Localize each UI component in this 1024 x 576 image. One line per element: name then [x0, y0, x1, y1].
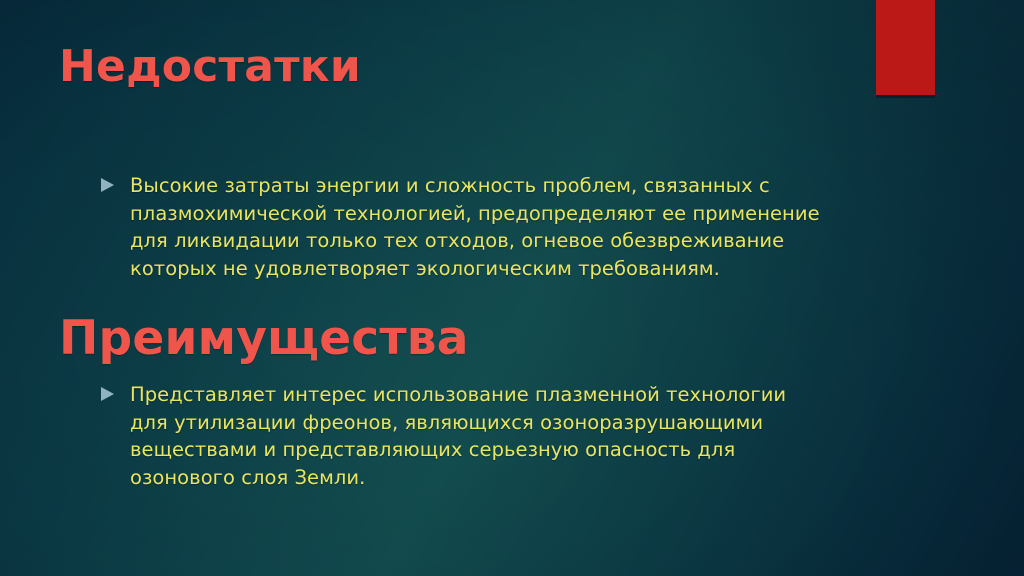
- triangle-right-bullet-icon: [101, 386, 115, 402]
- heading-drawbacks: Недостатки: [59, 42, 361, 92]
- slide-content: Недостатки Высокие затраты энергии и сло…: [0, 0, 1024, 576]
- bullet-list-drawbacks: Высокие затраты энергии и сложность проб…: [101, 172, 841, 282]
- triangle-right-bullet-icon: [101, 177, 115, 193]
- presentation-slide: Недостатки Высокие затраты энергии и сло…: [0, 0, 1024, 576]
- bullet-text-advantages: Представляет интерес использование плазм…: [130, 381, 820, 491]
- bullet-text-drawbacks: Высокие затраты энергии и сложность проб…: [130, 172, 820, 282]
- bullet-list-advantages: Представляет интерес использование плазм…: [101, 381, 841, 491]
- heading-advantages: Преимущества: [59, 312, 469, 366]
